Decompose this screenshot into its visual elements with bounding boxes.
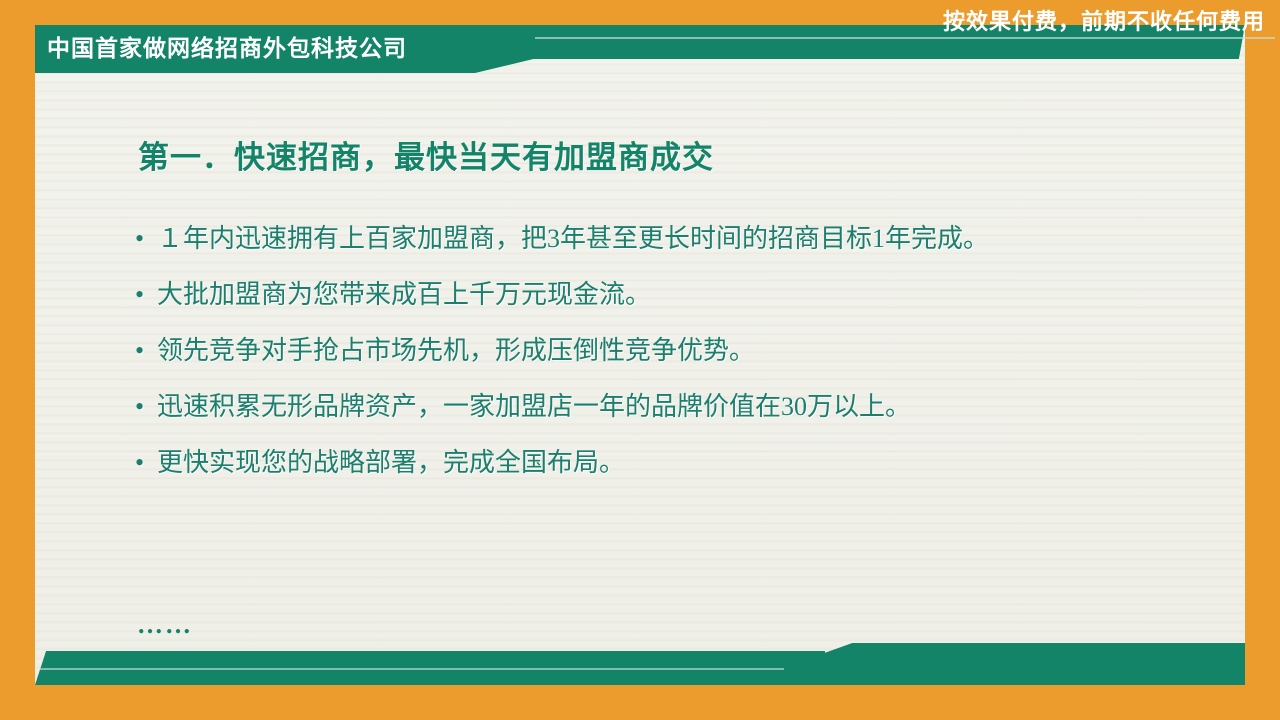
bullet-marker-icon: •	[135, 222, 157, 256]
bullet-marker-icon: •	[135, 334, 157, 368]
list-item-label: 迅速积累无形品牌资产，一家加盟店一年的品牌价值在30万以上。	[157, 390, 1235, 424]
list-item: • 大批加盟商为您带来成百上千万元现金流。	[135, 278, 1235, 312]
list-item-label: 领先竞争对手抢占市场先机，形成压倒性竞争优势。	[157, 334, 1235, 368]
bullet-list: • １年内迅速拥有上百家加盟商，把3年甚至更长时间的招商目标1年完成。 • 大批…	[135, 222, 1235, 502]
list-item-label: 大批加盟商为您带来成百上千万元现金流。	[157, 278, 1235, 312]
continuation-ellipsis: ……	[137, 612, 193, 638]
list-item: • 领先竞争对手抢占市场先机，形成压倒性竞争优势。	[135, 334, 1235, 368]
footer-slogan: 按效果付费，前期不收任何费用	[943, 8, 1265, 36]
bullet-marker-icon: •	[135, 390, 157, 424]
list-item: • 更快实现您的战略部署，完成全国布局。	[135, 446, 1235, 480]
page-title: 第一．快速招商，最快当天有加盟商成交	[138, 132, 714, 177]
company-tagline: 中国首家做网络招商外包科技公司	[47, 30, 407, 66]
list-item: • １年内迅速拥有上百家加盟商，把3年甚至更长时间的招商目标1年完成。	[135, 222, 1235, 256]
list-item-label: １年内迅速拥有上百家加盟商，把3年甚至更长时间的招商目标1年完成。	[157, 222, 1235, 256]
bullet-marker-icon: •	[135, 278, 157, 312]
list-item-label: 更快实现您的战略部署，完成全国布局。	[157, 446, 1235, 480]
presentation-slide: 中国首家做网络招商外包科技公司 第一．快速招商，最快当天有加盟商成交 • １年内…	[0, 0, 1280, 720]
slide-content: 第一．快速招商，最快当天有加盟商成交 • １年内迅速拥有上百家加盟商，把3年甚至…	[35, 100, 1245, 620]
list-item: • 迅速积累无形品牌资产，一家加盟店一年的品牌价值在30万以上。	[135, 390, 1235, 424]
bullet-marker-icon: •	[135, 446, 157, 480]
